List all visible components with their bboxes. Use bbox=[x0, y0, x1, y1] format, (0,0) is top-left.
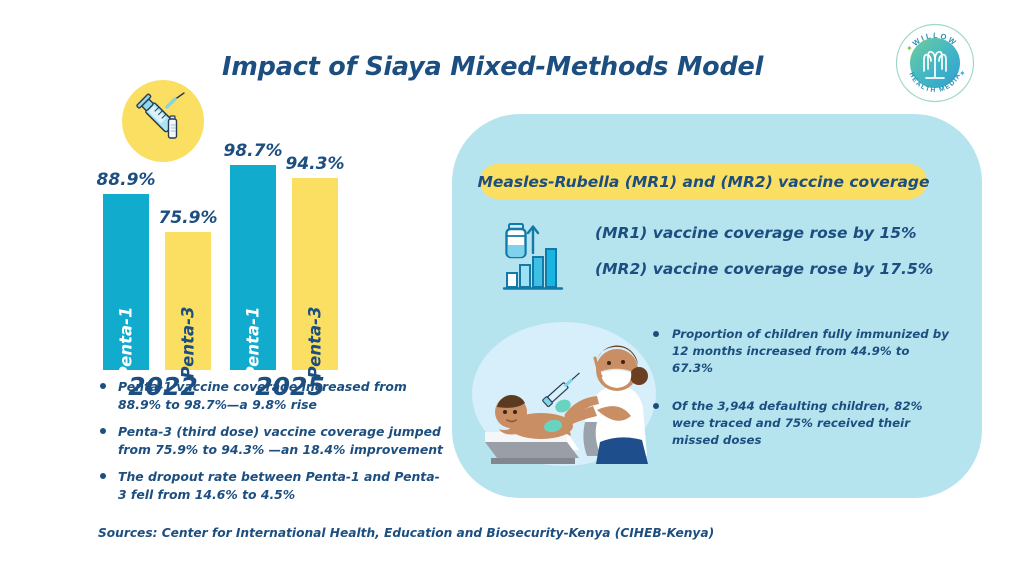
bullet-dot-icon bbox=[100, 473, 106, 479]
bar-series-label: Penta-3 bbox=[306, 307, 325, 379]
bullet-dot-icon bbox=[653, 403, 659, 409]
infographic-canvas: Impact of Siaya Mixed-Methods Model bbox=[0, 0, 1024, 576]
panel-findings-list: Proportion of children fully immunized b… bbox=[652, 326, 952, 471]
list-item: Penta-1 vaccine coverage increased from … bbox=[98, 378, 448, 413]
list-item: Proportion of children fully immunized b… bbox=[652, 326, 952, 376]
bar-series-label: Penta-3 bbox=[179, 307, 198, 379]
penta-coverage-bar-chart: 88.9% Penta-1 75.9% Penta-3 2022 98.7% bbox=[0, 130, 440, 370]
bar-value: 88.9% bbox=[97, 170, 156, 190]
bar-group-2025: 98.7% Penta-1 94.3% Penta-3 2025 bbox=[230, 165, 350, 370]
bar-series-label: Penta-1 bbox=[244, 307, 263, 379]
bullet-dot-icon bbox=[653, 331, 659, 337]
bar-group-2022: 88.9% Penta-1 75.9% Penta-3 2022 bbox=[103, 165, 223, 370]
list-item: Of the 3,944 defaulting children, 82% we… bbox=[652, 398, 952, 448]
nurse-vaccinating-baby-illustration bbox=[467, 314, 662, 484]
list-item: Penta-3 (third dose) vaccine coverage ju… bbox=[98, 423, 448, 458]
bar-value: 94.3% bbox=[286, 154, 345, 174]
page-title: Impact of Siaya Mixed-Methods Model bbox=[222, 52, 782, 82]
vaccine-vial-growth-chart-icon bbox=[502, 221, 566, 293]
list-item: The dropout rate between Penta-1 and Pen… bbox=[98, 468, 448, 503]
logo-sparkle-right: ✦ bbox=[959, 69, 966, 78]
panel-banner: Measles-Rubella (MR1) and (MR2) vaccine … bbox=[480, 164, 927, 199]
bar-series-label: Penta-1 bbox=[117, 307, 136, 379]
willow-health-media-logo: WILLOW HEALTH MEDIA ✦ ✦ bbox=[893, 21, 977, 105]
mr-coverage-lines: (MR1) vaccine coverage rose by 15% (MR2)… bbox=[595, 224, 975, 296]
list-item-text: Of the 3,944 defaulting children, 82% we… bbox=[672, 399, 922, 447]
mr1-line: (MR1) vaccine coverage rose by 15% bbox=[595, 224, 975, 242]
mr-coverage-panel: Measles-Rubella (MR1) and (MR2) vaccine … bbox=[452, 114, 982, 498]
bullet-dot-icon bbox=[100, 428, 106, 434]
sources-note: Sources: Center for International Health… bbox=[98, 526, 714, 540]
bullet-dot-icon bbox=[100, 383, 106, 389]
mr2-line: (MR2) vaccine coverage rose by 17.5% bbox=[595, 260, 975, 278]
list-item-text: Proportion of children fully immunized b… bbox=[672, 327, 949, 375]
list-item-text: The dropout rate between Penta-1 and Pen… bbox=[118, 469, 440, 502]
logo-sparkle-left: ✦ bbox=[906, 44, 913, 53]
list-item-text: Penta-1 vaccine coverage increased from … bbox=[118, 379, 407, 412]
left-findings-list: Penta-1 vaccine coverage increased from … bbox=[98, 378, 448, 514]
bar-value: 75.9% bbox=[159, 208, 218, 228]
bar-value: 98.7% bbox=[224, 141, 283, 161]
list-item-text: Penta-3 (third dose) vaccine coverage ju… bbox=[118, 424, 443, 457]
